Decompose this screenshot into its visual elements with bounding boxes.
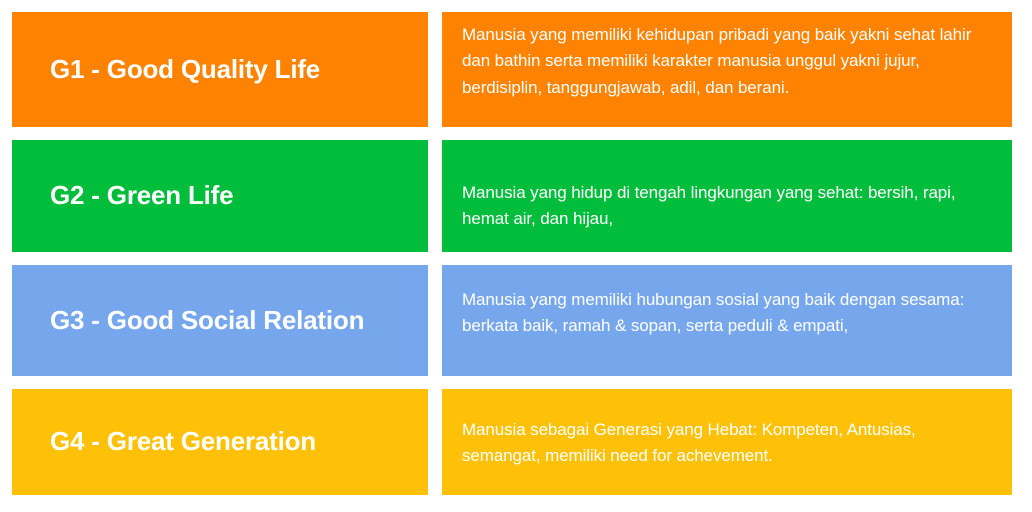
row-title-label: G4 - Great Generation: [50, 426, 316, 457]
column-gap: [428, 12, 442, 127]
row-title-block-g1: G1 - Good Quality Life: [12, 12, 428, 127]
column-gap: [428, 265, 442, 376]
row-description-block-g1: Manusia yang memiliki kehidupan pribadi …: [442, 12, 1012, 127]
row-title-block-g3: G3 - Good Social Relation: [12, 265, 428, 376]
row-title-block-g2: G2 - Green Life: [12, 140, 428, 252]
row-description-block-g4: Manusia sebagai Generasi yang Hebat: Kom…: [442, 389, 1012, 495]
values-table: G1 - Good Quality Life Manusia yang memi…: [0, 0, 1032, 512]
table-row: G3 - Good Social Relation Manusia yang m…: [12, 265, 1012, 376]
row-description-label: Manusia yang memiliki kehidupan pribadi …: [462, 22, 994, 101]
table-row: G1 - Good Quality Life Manusia yang memi…: [12, 12, 1012, 127]
row-title-label: G3 - Good Social Relation: [50, 305, 364, 336]
row-title-label: G1 - Good Quality Life: [50, 54, 320, 85]
row-description-block-g2: Manusia yang hidup di tengah lingkungan …: [442, 140, 1012, 252]
table-row: G2 - Green Life Manusia yang hidup di te…: [12, 140, 1012, 252]
table-row: G4 - Great Generation Manusia sebagai Ge…: [12, 389, 1012, 495]
row-description-block-g3: Manusia yang memiliki hubungan sosial ya…: [442, 265, 1012, 376]
column-gap: [428, 140, 442, 252]
row-description-label: Manusia sebagai Generasi yang Hebat: Kom…: [462, 417, 994, 470]
row-description-label: Manusia yang memiliki hubungan sosial ya…: [462, 287, 994, 340]
row-title-label: G2 - Green Life: [50, 180, 233, 211]
row-title-block-g4: G4 - Great Generation: [12, 389, 428, 495]
column-gap: [428, 389, 442, 495]
row-description-label: Manusia yang hidup di tengah lingkungan …: [462, 180, 994, 233]
